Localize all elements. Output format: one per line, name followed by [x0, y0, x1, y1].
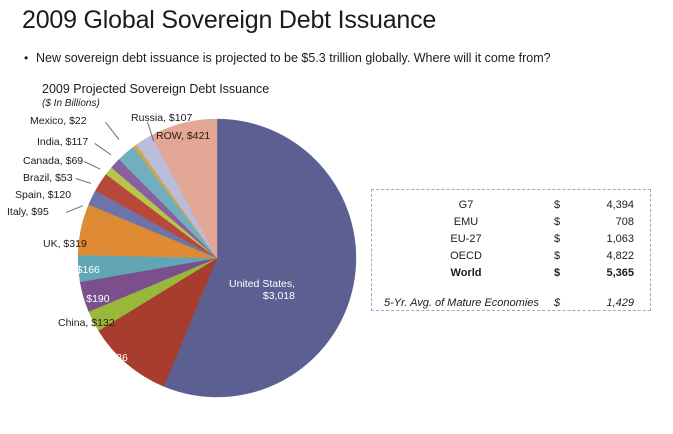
row-value: 1,063 [580, 233, 640, 245]
row-value: 4,822 [580, 250, 640, 262]
row-label: EMU [372, 216, 554, 228]
row-value: 708 [580, 216, 640, 228]
row-currency: $ [554, 267, 580, 279]
row-label: OECD [372, 250, 554, 262]
bullet-marker-icon: • [24, 50, 36, 66]
row-label: World [372, 267, 554, 279]
row-currency: $ [554, 199, 580, 211]
footer-value: 1,429 [580, 297, 640, 309]
row-currency: $ [554, 250, 580, 262]
bullet-list-item: • New sovereign debt issuance is project… [24, 50, 551, 66]
row-currency: $ [554, 216, 580, 228]
bullet-item-text: New sovereign debt issuance is projected… [36, 50, 551, 66]
row-currency: $ [554, 233, 580, 245]
row-value: 5,365 [580, 267, 640, 279]
row-value: 4,394 [580, 199, 640, 211]
summary-table-footer: 5-Yr. Avg. of Mature Economies $ 1,429 [372, 297, 650, 314]
row-label: EU-27 [372, 233, 554, 245]
summary-table-body: G7$4,394EMU$708EU-27$1,063OECD$4,822Worl… [372, 190, 650, 284]
summary-table: G7$4,394EMU$708EU-27$1,063OECD$4,822Worl… [371, 189, 651, 311]
footer-label: 5-Yr. Avg. of Mature Economies [372, 297, 554, 309]
table-row: OECD$4,822 [372, 250, 650, 267]
table-row: G7$4,394 [372, 199, 650, 216]
footer-currency: $ [554, 297, 580, 309]
pie-slice-group [78, 119, 356, 397]
page-title: 2009 Global Sovereign Debt Issuance [22, 6, 436, 35]
table-row: World$5,365 [372, 267, 650, 284]
table-row: EU-27$1,063 [372, 233, 650, 250]
table-row-footer: 5-Yr. Avg. of Mature Economies $ 1,429 [372, 297, 650, 314]
table-row: EMU$708 [372, 216, 650, 233]
row-label: G7 [372, 199, 554, 211]
